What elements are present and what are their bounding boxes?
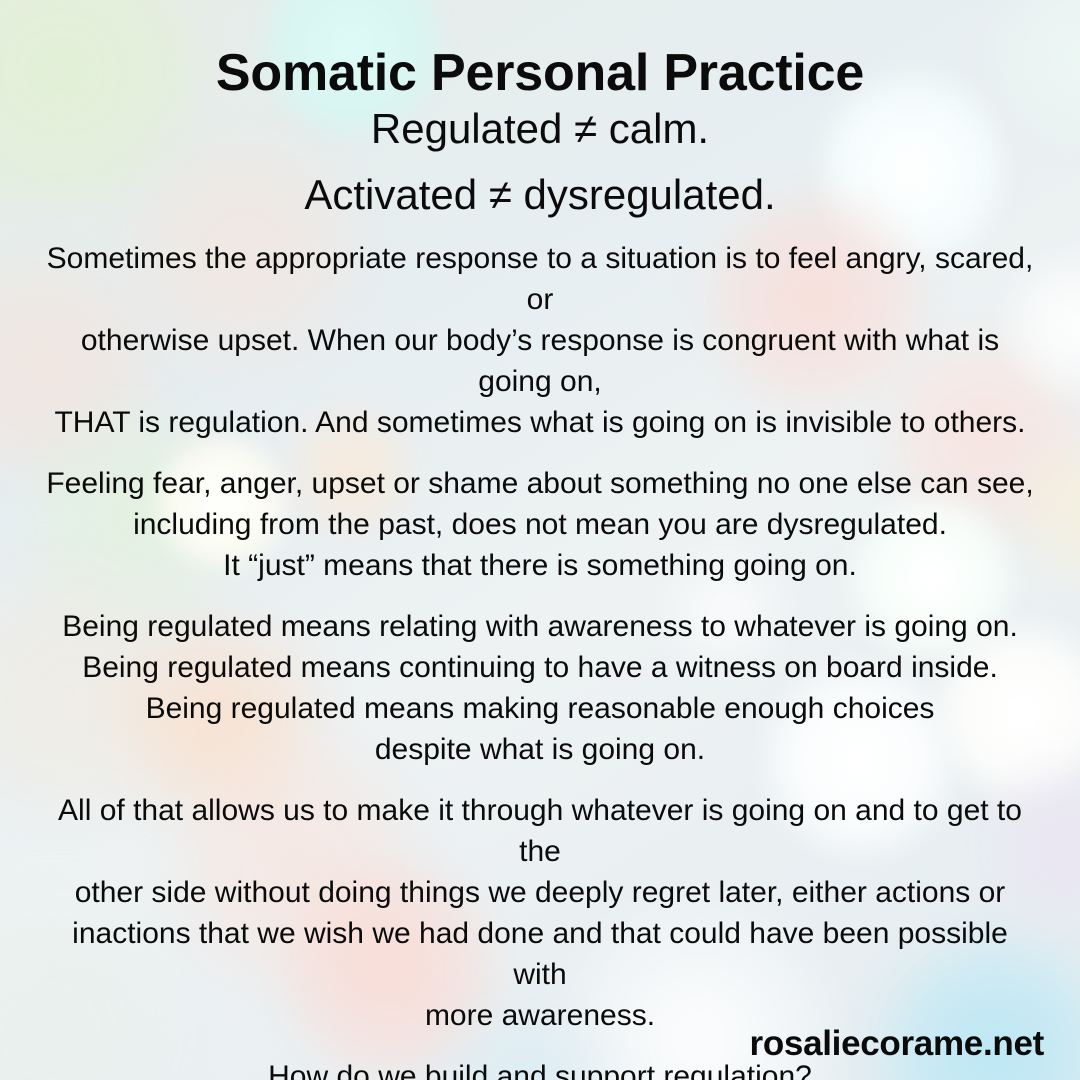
paragraph-line: THAT is regulation. And sometimes what i… — [42, 402, 1038, 443]
subtitle-block: Regulated ≠ calm. Activated ≠ dysregulat… — [26, 108, 1054, 216]
body-paragraph-4: All of that allows us to make it through… — [26, 790, 1054, 1036]
poster-content: Somatic Personal Practice Regulated ≠ ca… — [0, 0, 1080, 1080]
paragraph-line: otherwise upset. When our body’s respons… — [42, 320, 1038, 402]
paragraph-line: Being regulated means relating with awar… — [42, 606, 1038, 647]
page-title: Somatic Personal Practice — [26, 46, 1054, 102]
paragraph-line: Being regulated means making reasonable … — [42, 688, 1038, 729]
paragraph-line: Feeling fear, anger, upset or shame abou… — [42, 463, 1038, 504]
body-paragraph-2: Feeling fear, anger, upset or shame abou… — [26, 463, 1054, 586]
body-paragraph-1: Sometimes the appropriate response to a … — [26, 238, 1054, 443]
paragraph-line: It “just” means that there is something … — [42, 545, 1038, 586]
website-credit[interactable]: rosaliecorame.net — [750, 1024, 1045, 1064]
paragraph-line: All of that allows us to make it through… — [42, 790, 1038, 872]
paragraph-line: inactions that we wish we had done and t… — [42, 913, 1038, 995]
paragraph-line: Sometimes the appropriate response to a … — [42, 238, 1038, 320]
paragraph-line: other side without doing things we deepl… — [42, 872, 1038, 913]
poster-canvas: Somatic Personal Practice Regulated ≠ ca… — [0, 0, 1080, 1080]
subtitle-line-1: Regulated ≠ calm. — [26, 108, 1054, 150]
paragraph-line: including from the past, does not mean y… — [42, 504, 1038, 545]
subtitle-line-2: Activated ≠ dysregulated. — [26, 174, 1054, 216]
body-paragraph-3: Being regulated means relating with awar… — [26, 606, 1054, 770]
paragraph-line: Being regulated means continuing to have… — [42, 647, 1038, 688]
paragraph-line: despite what is going on. — [42, 729, 1038, 770]
